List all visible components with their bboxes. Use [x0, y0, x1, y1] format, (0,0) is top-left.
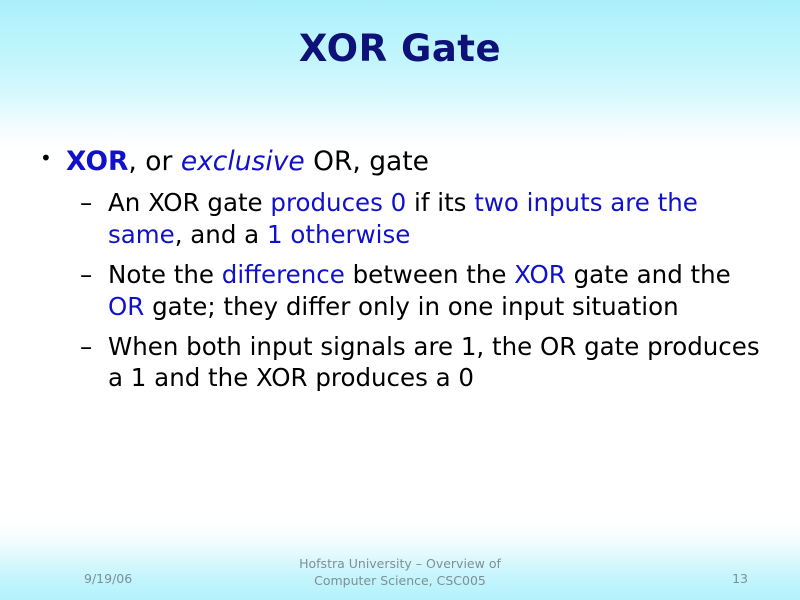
run-or: OR [108, 292, 144, 321]
footer-date: 9/19/06 [84, 571, 132, 588]
run-when-both-inputs: When both input signals are 1, the OR ga… [108, 332, 760, 392]
run-xor-2: XOR [514, 260, 566, 289]
run-and-a: , and a [175, 220, 267, 249]
bullet-level1-text: XOR, or exclusive OR, gate [66, 146, 429, 177]
run-if-its: if its [406, 188, 474, 217]
bullet-level2-1-text: An XOR gate produces 0 if its two inputs… [108, 188, 698, 248]
slide-body: • XOR, or exclusive OR, gate – An XOR ga… [36, 145, 766, 403]
presentation-slide: XOR Gate • XOR, or exclusive OR, gate – … [0, 0, 800, 600]
footer-center-line2: Computer Science, CSC005 [200, 573, 600, 590]
run-or-gate: OR, gate [305, 146, 429, 177]
bullet-level2-3-text: When both input signals are 1, the OR ga… [108, 332, 760, 392]
run-gate-they-differ: gate; they differ only in one input situ… [144, 292, 678, 321]
run-or-comma: , or [128, 146, 180, 177]
footer-page-number: 13 [732, 571, 748, 588]
slide-title-area: XOR Gate [40, 28, 760, 71]
bullet-level1: • XOR, or exclusive OR, gate [36, 145, 766, 179]
run-1-otherwise: 1 otherwise [267, 220, 410, 249]
bullet-level2-2: – Note the difference between the XOR ga… [36, 259, 766, 322]
slide-footer: 9/19/06 Hofstra University – Overview of… [0, 552, 800, 600]
run-difference: difference [222, 260, 345, 289]
run-note-the: Note the [108, 260, 222, 289]
page-title: XOR Gate [40, 28, 760, 71]
run-between-the: between the [345, 260, 515, 289]
bullet-level2-2-text: Note the difference between the XOR gate… [108, 260, 731, 320]
bullet-dash-icon: – [80, 331, 92, 362]
bullet-dash-icon: – [80, 259, 92, 290]
run-an-xor-gate: An XOR gate [108, 188, 270, 217]
bullet-level2-3: – When both input signals are 1, the OR … [36, 331, 766, 394]
bullet-dash-icon: – [80, 187, 92, 218]
run-gate-and-the: gate and the [566, 260, 731, 289]
footer-center-line1: Hofstra University – Overview of [200, 556, 600, 573]
bullet-level2-1: – An XOR gate produces 0 if its two inpu… [36, 187, 766, 250]
footer-center-text: Hofstra University – Overview of Compute… [200, 556, 600, 589]
run-xor: XOR [66, 146, 128, 177]
run-exclusive: exclusive [181, 146, 305, 177]
run-produces-0: produces 0 [270, 188, 406, 217]
bullet-dot-icon: • [40, 144, 52, 173]
